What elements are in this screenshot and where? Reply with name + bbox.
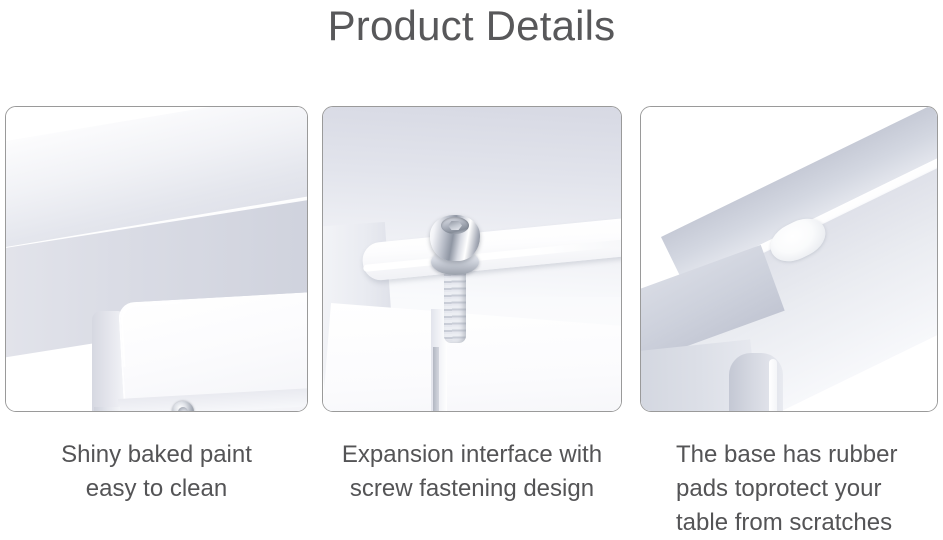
page-title: Product Details [0, 0, 943, 52]
product-detail-panel-3[interactable] [640, 106, 938, 412]
panel-2-caption: Expansion interface with screw fastening… [322, 438, 622, 506]
shelf-corner-leg-highlight [769, 359, 777, 411]
bolt-threaded-shaft [444, 271, 466, 343]
panel-3-caption: The base has rubber pads toprotect your … [676, 438, 938, 540]
product-detail-panel-1[interactable] [5, 106, 308, 412]
panel-1-caption: Shiny baked paint easy to clean [5, 438, 308, 506]
product-detail-panel-2[interactable] [322, 106, 622, 412]
product-photo-shelf-corner [6, 107, 307, 411]
bracket-flange-shadow [433, 347, 439, 411]
shelf-leg [94, 407, 120, 411]
product-photo-expansion-interface [323, 107, 621, 411]
hex-socket-icon [441, 217, 469, 234]
product-photo-rubber-pad [641, 107, 937, 411]
shelf-inner-edge-highlight [120, 302, 185, 367]
